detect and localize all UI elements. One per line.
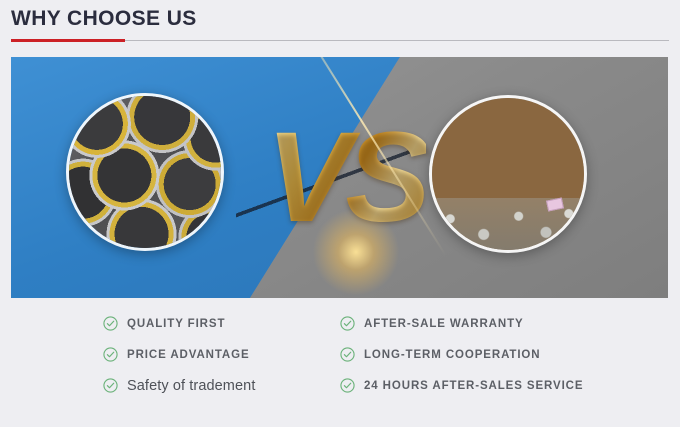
list-item: QUALITY FIRST xyxy=(103,310,255,337)
title-rule-red xyxy=(11,39,125,42)
comparison-banner: VS OUR PRODUCTS OTHER PRODUCTS xyxy=(11,57,668,298)
check-circle-icon xyxy=(103,378,118,393)
page-header: WHY CHOOSE US xyxy=(0,0,680,50)
check-circle-icon xyxy=(340,316,355,331)
check-circle-icon xyxy=(340,378,355,393)
list-item: Safety of tradement xyxy=(103,372,255,399)
list-item: LONG-TERM COOPERATION xyxy=(340,341,583,368)
check-circle-icon xyxy=(103,347,118,362)
feature-label: QUALITY FIRST xyxy=(127,318,225,330)
list-item: AFTER-SALE WARRANTY xyxy=(340,310,583,337)
feature-list: QUALITY FIRST PRICE ADVANTAGE Safety of … xyxy=(0,310,680,405)
our-products-photo xyxy=(66,93,224,251)
feature-label: Safety of tradement xyxy=(127,378,255,394)
feature-column-right: AFTER-SALE WARRANTY LONG-TERM COOPERATIO… xyxy=(340,310,583,403)
other-products-photo xyxy=(429,95,587,253)
versus-graphic: VS xyxy=(266,112,426,252)
page-title: WHY CHOOSE US xyxy=(11,7,197,31)
list-item: 24 HOURS AFTER-SALES SERVICE xyxy=(340,372,583,399)
steel-pipes-image xyxy=(66,93,224,251)
feature-label: PRICE ADVANTAGE xyxy=(127,349,250,361)
feature-label: AFTER-SALE WARRANTY xyxy=(364,318,524,330)
feature-label: LONG-TERM COOPERATION xyxy=(364,349,541,361)
feature-column-left: QUALITY FIRST PRICE ADVANTAGE Safety of … xyxy=(103,310,255,403)
check-circle-icon xyxy=(103,316,118,331)
check-circle-icon xyxy=(340,347,355,362)
list-item: PRICE ADVANTAGE xyxy=(103,341,255,368)
feature-label: 24 HOURS AFTER-SALES SERVICE xyxy=(364,380,583,392)
